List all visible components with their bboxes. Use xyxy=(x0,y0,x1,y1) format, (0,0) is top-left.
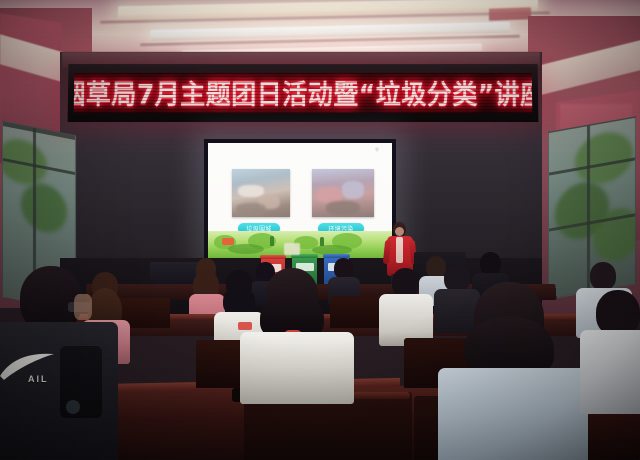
slide-tree-icon-1 xyxy=(270,236,274,246)
slide-watermark-logo: ⚜ xyxy=(367,146,387,162)
bin-red-lid xyxy=(260,255,286,259)
led-banner: 烟草局7月主题团日活动暨“垃圾分类”讲座 xyxy=(68,64,539,122)
photo-shadow-1 xyxy=(236,203,266,215)
led-banner-text: 烟草局7月主题团日活动暨“垃圾分类”讲座 xyxy=(74,74,533,112)
ceiling-vent-right xyxy=(489,7,531,20)
face-profile xyxy=(74,294,92,320)
window-mullion-v-right xyxy=(587,125,590,294)
projection-screen: ⚜ 垃圾围城 环境污染 xyxy=(204,139,396,263)
torso xyxy=(240,332,354,404)
photo-highlight-1 xyxy=(238,185,264,197)
slide-tree-icon-2 xyxy=(320,237,324,246)
head xyxy=(426,256,446,278)
photo-highlight-4 xyxy=(342,181,364,199)
torso xyxy=(438,368,588,460)
floor-marker-card xyxy=(284,243,300,255)
person-lightblue-shirt xyxy=(446,282,596,460)
person-dark-hair-right xyxy=(244,268,354,388)
presenter-face xyxy=(395,227,404,236)
head xyxy=(480,252,501,275)
foliage-left-2 xyxy=(21,180,67,237)
torso xyxy=(580,330,640,414)
lecture-room-photo: 烟草局7月主题团日活动暨“垃圾分类”讲座 ⚜ 垃圾围城 环境污染 xyxy=(0,0,640,460)
presenter-shirt xyxy=(396,237,403,263)
person-dark-tshirt: AIL xyxy=(0,266,130,460)
head xyxy=(392,268,419,297)
backpack-buckle xyxy=(66,400,80,414)
person-white-shirt-edge xyxy=(588,290,640,410)
foliage-right-1 xyxy=(575,128,633,188)
led-banner-screen: 烟草局7月主题团日活动暨“垃圾分类”讲座 xyxy=(74,73,533,113)
photo-shadow-2 xyxy=(326,201,360,215)
landfill-photo-left xyxy=(232,169,290,217)
grass-shade-1 xyxy=(228,244,264,254)
slide-house-icon xyxy=(222,238,234,245)
shirt-text: AIL xyxy=(28,374,49,384)
presentation-slide: ⚜ 垃圾围城 环境污染 xyxy=(208,143,392,259)
landfill-photo-right xyxy=(312,169,374,217)
